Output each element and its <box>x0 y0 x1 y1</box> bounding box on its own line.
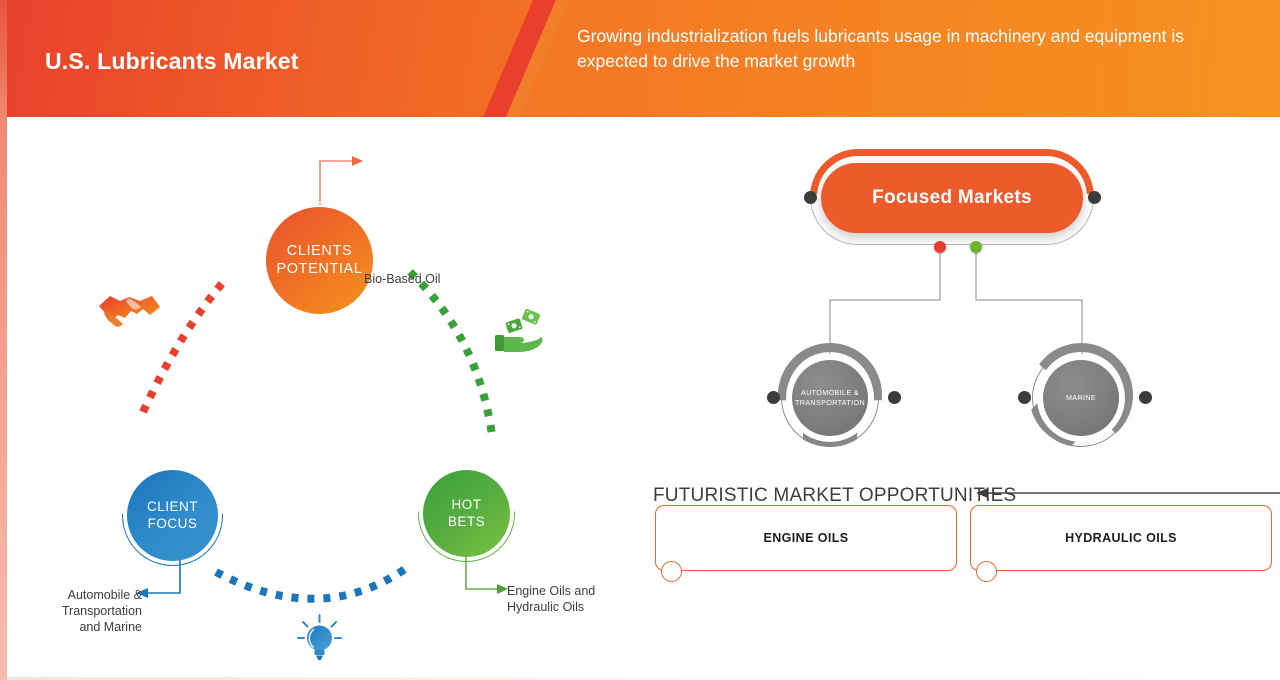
callout-line2: Transportation <box>32 603 142 619</box>
node-ring-highlight <box>122 465 223 566</box>
capsule-right-dot <box>1088 191 1101 204</box>
callout-line2: Hydraulic Oils <box>507 599 637 615</box>
focused-markets-capsule[interactable]: Focused Markets <box>821 163 1083 233</box>
callout-line1: Automobile & <box>32 587 142 603</box>
market-circle-marine[interactable]: MARINE <box>1043 360 1119 436</box>
market-circle-1-right-dot <box>888 391 901 404</box>
page-title: U.S. Lubricants Market <box>45 48 299 75</box>
node-client-focus[interactable]: CLIENT FOCUS <box>127 470 218 561</box>
node-label-line1: HOT <box>452 497 482 513</box>
lightbulb-icon <box>293 612 346 669</box>
callout-automobile-transportation-marine: Automobile & Transportation and Marine <box>32 587 142 635</box>
focused-markets-diagram: Focused Markets AUTOMOBILE & TRANSPORTAT… <box>640 117 1280 680</box>
handshake-icon <box>96 282 162 339</box>
opportunity-box-engine-oils[interactable]: ENGINE OILS <box>655 505 957 571</box>
market-circle-label-line1: MARINE <box>1066 393 1096 403</box>
market-circle-label-line1: AUTOMOBILE & <box>795 388 865 398</box>
callout-line1: Engine Oils and <box>507 583 637 599</box>
callout-bio-based-oil: Bio-Based Oil <box>364 271 440 287</box>
capsule-left-dot <box>804 191 817 204</box>
market-circle-2-right-dot <box>1139 391 1152 404</box>
money-in-hand-icon <box>493 307 545 362</box>
cycle-diagram: CLIENTS POTENTIAL CLIENT FOCUS HOT BETS … <box>0 117 640 680</box>
callout-engine-hydraulic-oils: Engine Oils and Hydraulic Oils <box>507 583 637 615</box>
futuristic-opportunities-title: FUTURISTIC MARKET OPPORTUNITIES <box>653 485 1016 507</box>
opportunity-box-engine-oils-marker <box>661 561 682 582</box>
market-circle-1-left-dot <box>767 391 780 404</box>
node-ring-highlight <box>261 202 378 319</box>
node-clients-potential[interactable]: CLIENTS POTENTIAL <box>266 207 373 314</box>
node-hot-bets[interactable]: HOT BETS <box>423 470 510 557</box>
callout-line3: and Marine <box>32 619 142 635</box>
page-header: U.S. Lubricants Market Growing industria… <box>0 0 1280 117</box>
node-ring-highlight <box>418 465 515 562</box>
market-circle-automobile-transportation[interactable]: AUTOMOBILE & TRANSPORTATION <box>792 360 868 436</box>
opportunity-box-hydraulic-oils-marker <box>976 561 997 582</box>
green-status-dot <box>970 241 982 253</box>
infographic-page: U.S. Lubricants Market Growing industria… <box>0 0 1280 680</box>
page-subtitle: Growing industrialization fuels lubrican… <box>577 24 1247 74</box>
market-circle-2-left-dot <box>1018 391 1031 404</box>
node-label-line1: CLIENT <box>147 499 198 515</box>
red-status-dot <box>934 241 946 253</box>
market-circle-label-line2: TRANSPORTATION <box>795 398 865 408</box>
opportunity-box-hydraulic-oils[interactable]: HYDRAULIC OILS <box>970 505 1272 571</box>
node-label-line2: POTENTIAL <box>277 261 363 279</box>
